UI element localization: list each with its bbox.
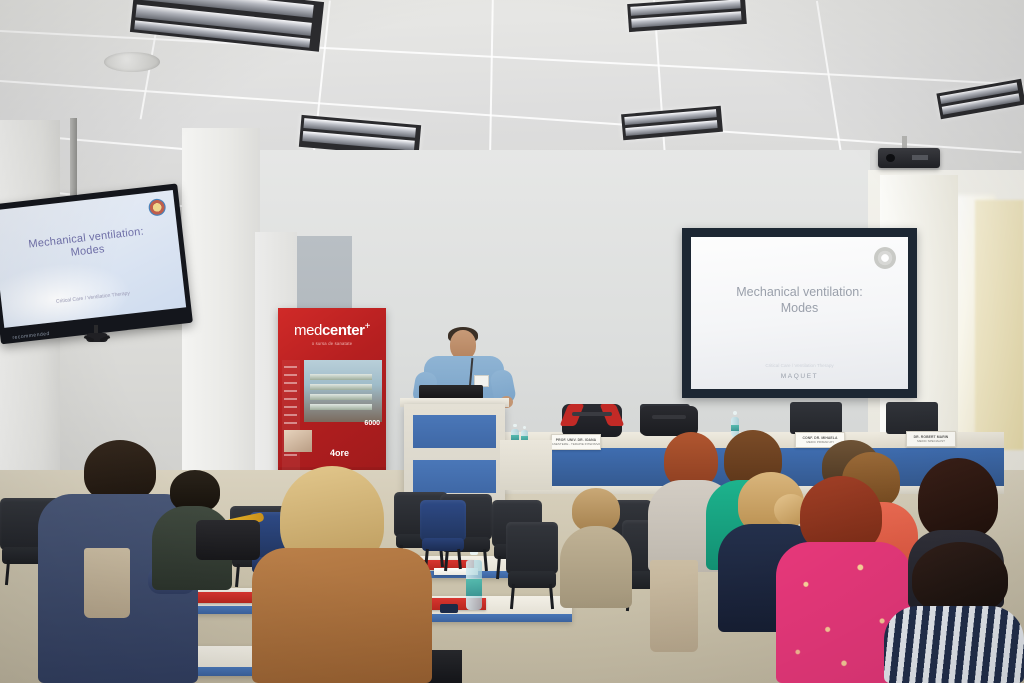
- hair: [912, 542, 1008, 614]
- tricolor-seal-logo: [148, 198, 167, 217]
- banner-brand-first: med: [294, 322, 322, 339]
- torso: [884, 606, 1024, 683]
- hair: [84, 440, 156, 502]
- center-column: [182, 128, 260, 480]
- head-table-chair: [886, 402, 938, 434]
- banner-logo: medcenter+: [278, 322, 386, 339]
- presenter-laptop: [419, 385, 483, 399]
- audience-member-woman-striped-shirt: [884, 542, 1024, 683]
- tote-bag: [84, 548, 130, 618]
- slide-footnote: Critical Care / Ventilation Therapy: [691, 363, 908, 368]
- nameplate: DR. ROBERT MARIN MEDIC SPECIALIST: [906, 431, 956, 447]
- ceiling-projector: [878, 148, 940, 172]
- tv-slide-title: Mechanical ventilation: Modes: [0, 222, 179, 269]
- tote-bag: [650, 560, 698, 652]
- maquet-circular-logo: [874, 247, 896, 269]
- nameplate: PROF. UNIV. DR. IOANA ANESTEZIE - TERAPI…: [551, 434, 601, 450]
- tv-mount-pole: [70, 118, 77, 196]
- nameplate-role: MEDIC SPECIALIST: [917, 439, 945, 443]
- ceiling-light-panel: [130, 0, 324, 52]
- audience-member-woman-beige-khaki: [560, 488, 632, 608]
- banner-service-list: [282, 360, 300, 478]
- black-red-duffel-bag: [562, 404, 622, 437]
- projection-screen: Mechanical ventilation: Modes Critical C…: [691, 237, 908, 389]
- torso: [252, 548, 432, 683]
- audience-chair: [506, 522, 558, 606]
- ceiling-light-panel: [621, 106, 723, 141]
- ceiling-light-panel: [627, 0, 747, 32]
- conference-room-photo: Mechanical ventilation: Modes Critical C…: [0, 0, 1024, 683]
- wall-mounted-tv: Mechanical ventilation: Modes Critical C…: [0, 183, 193, 344]
- banner-number-large: 4ore: [330, 448, 349, 458]
- banner-tagline: o sursa de sanatate: [278, 341, 386, 346]
- plus-icon: +: [365, 321, 370, 332]
- banner-building-photo: [304, 360, 382, 422]
- banner-brand-second: center: [322, 322, 365, 339]
- banner-interior-photo: [284, 430, 312, 452]
- black-backpack: [196, 520, 260, 560]
- medcenter-rollup-banner: medcenter+ o sursa de sanatate 6000 4ore…: [278, 308, 386, 491]
- tv-screen: Mechanical ventilation: Modes Critical C…: [0, 190, 186, 328]
- podium-panel: [413, 415, 496, 448]
- banner-number-small: 6000: [364, 420, 380, 427]
- smartphone-on-desk: [440, 604, 458, 613]
- ceiling-light-panel: [936, 79, 1024, 120]
- audience-member-woman-tan-jacket: [252, 466, 432, 683]
- hair: [918, 458, 998, 540]
- ceiling-speaker: [104, 52, 160, 72]
- torso: [560, 526, 632, 608]
- window-blind: [975, 200, 1024, 450]
- conference-folder: [196, 592, 254, 603]
- slide-title: Mechanical ventilation: Modes: [691, 284, 908, 316]
- wall-camera: [82, 325, 116, 351]
- side-table: [500, 440, 552, 490]
- nameplate-role: ANESTEZIE - TERAPIE INTENSIVA: [552, 442, 601, 446]
- slide-brand: MAQUET: [691, 373, 908, 380]
- projection-screen-frame: Mechanical ventilation: Modes Critical C…: [682, 228, 917, 398]
